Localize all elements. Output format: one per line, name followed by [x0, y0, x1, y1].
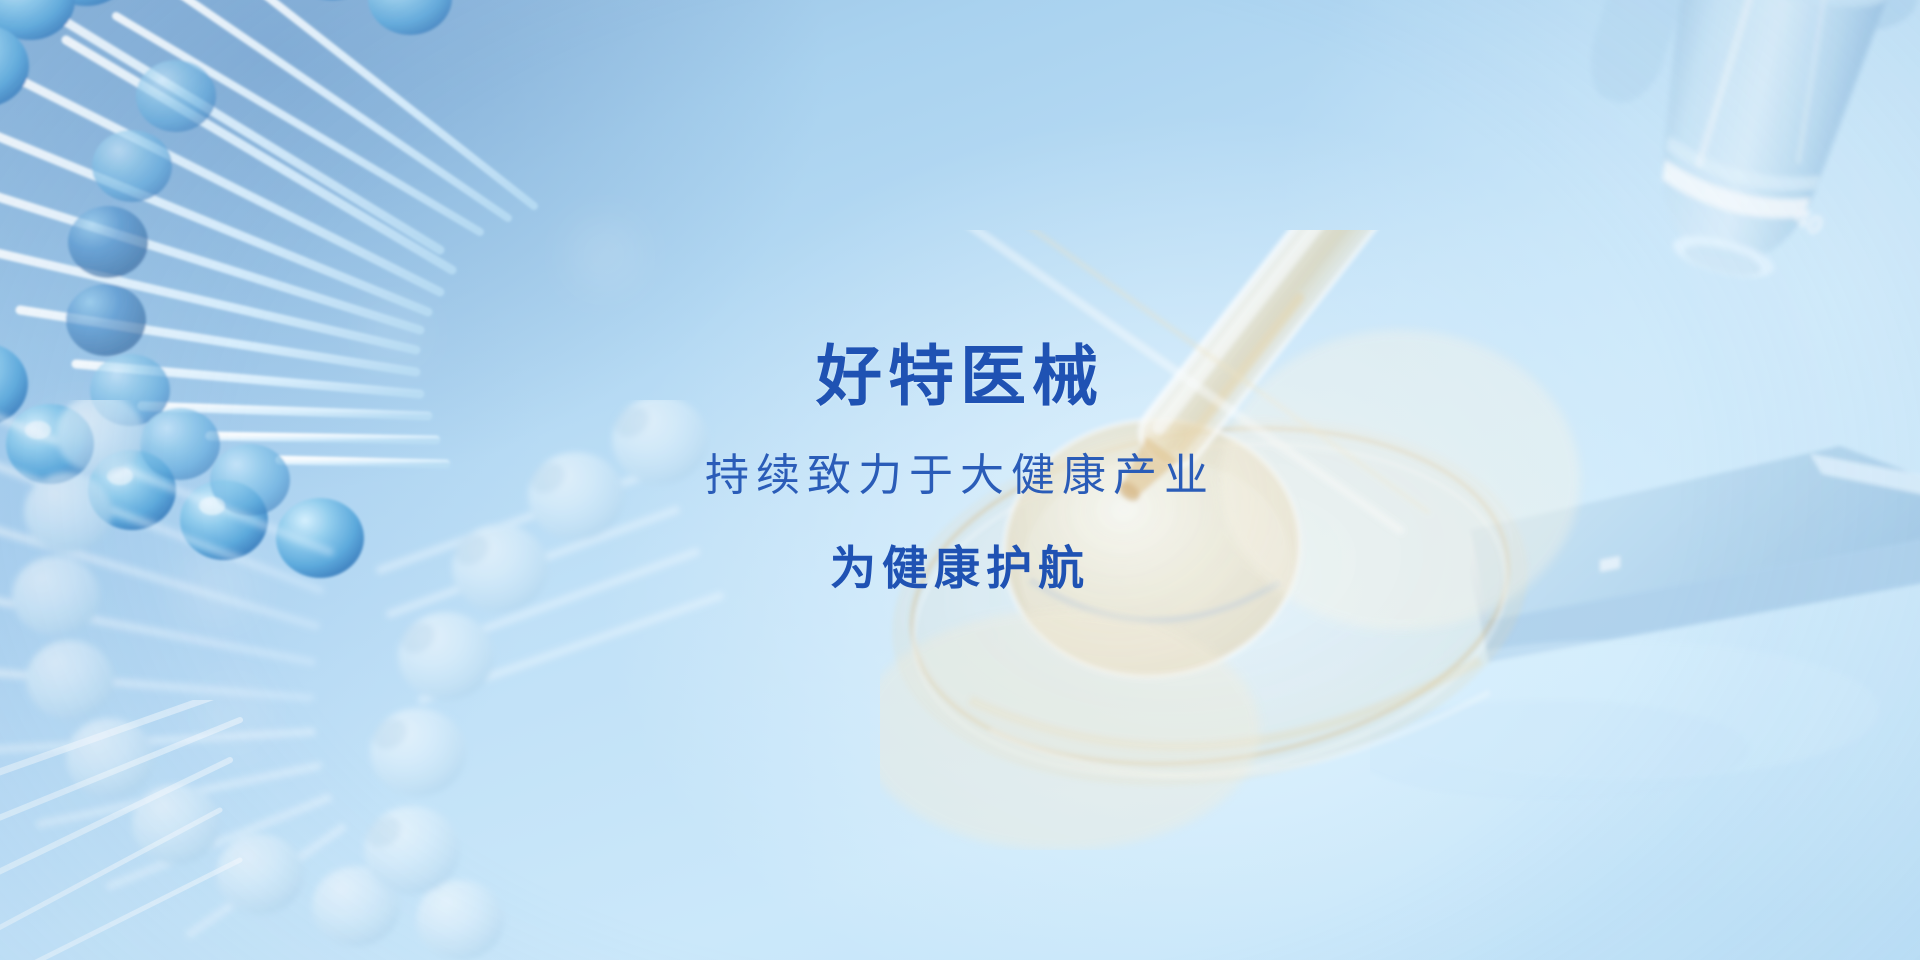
microscope-magnification-label: 40 — [1789, 201, 1829, 241]
hero-text-block: 好特医械 持续致力于大健康产业 为健康护航 — [0, 338, 1920, 596]
microscope-objective-lens: 40 — [1520, 0, 1920, 360]
light-blob — [218, 700, 246, 728]
light-streaks — [0, 700, 640, 960]
light-blob — [590, 240, 620, 270]
hero-tagline: 为健康护航 — [0, 541, 1920, 596]
hero-subtitle: 持续致力于大健康产业 — [0, 450, 1920, 503]
hero-banner: 40 — [0, 0, 1920, 960]
page-title: 好特医械 — [0, 338, 1920, 416]
